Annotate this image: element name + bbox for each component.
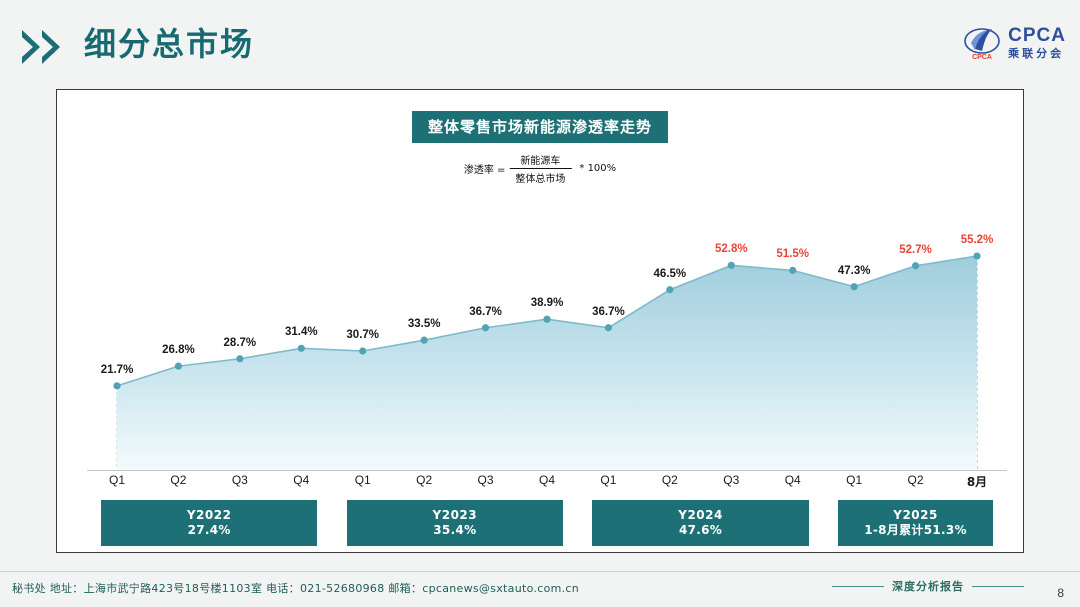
penetration-area-chart: 21.7%26.8%28.7%31.4%30.7%33.5%36.7%38.9%…: [87, 190, 1007, 470]
data-point[interactable]: [605, 324, 612, 331]
footer-report-label: 深度分析报告: [832, 578, 1024, 594]
data-label: 52.8%: [715, 243, 748, 255]
slide-header: 细分总市场 CPCA CPCA 乘联分会: [0, 0, 1080, 84]
chart-card: 整体零售市场新能源渗透率走势 渗透率 = 新能源车 整体总市场 * 100%: [56, 89, 1024, 553]
data-label: 26.8%: [162, 344, 195, 356]
year-label: Y2023: [433, 508, 478, 523]
cpca-logo: CPCA CPCA 乘联分会: [962, 22, 1066, 64]
data-label: 31.4%: [285, 326, 318, 338]
penetration-formula: 渗透率 = 新能源车 整体总市场 * 100%: [464, 152, 616, 185]
chart-title: 整体零售市场新能源渗透率走势: [412, 111, 668, 143]
data-point[interactable]: [236, 355, 243, 362]
x-axis-tick: Q4: [785, 473, 801, 487]
data-point[interactable]: [973, 252, 980, 259]
double-chevron-right-icon: [22, 27, 78, 67]
data-point[interactable]: [851, 283, 858, 290]
year-label: Y2024: [678, 508, 723, 523]
year-value: 35.4%: [433, 523, 478, 538]
area-fill: [117, 256, 977, 470]
year-label: Y2022: [187, 508, 232, 523]
footer-report-text: 深度分析报告: [892, 578, 964, 594]
data-label: 36.7%: [469, 306, 502, 318]
x-axis-tick: Q3: [232, 473, 248, 487]
page-title: 细分总市场: [84, 22, 254, 66]
footer-line-right: [972, 586, 1024, 587]
data-point[interactable]: [543, 316, 550, 323]
footer-divider: [0, 571, 1080, 572]
cpca-swoosh-icon: CPCA: [962, 23, 1002, 63]
x-axis-tick: Q1: [109, 473, 125, 487]
data-label: 51.5%: [776, 248, 809, 260]
x-axis-tick: Q2: [662, 473, 678, 487]
data-label: 47.3%: [838, 265, 871, 277]
x-axis-line: [87, 470, 1007, 471]
year-summary-bar: Y202335.4%: [347, 500, 563, 546]
page-number: 8: [1057, 586, 1064, 600]
data-label: 55.2%: [961, 234, 994, 246]
logo-text-cn: 乘联分会: [1008, 47, 1064, 61]
data-label: 46.5%: [654, 268, 687, 280]
x-axis-tick: Q2: [908, 473, 924, 487]
logo-text-en: CPCA: [1008, 26, 1066, 45]
year-value: 27.4%: [187, 523, 232, 538]
data-point[interactable]: [113, 382, 120, 389]
chart-svg: [87, 190, 1007, 470]
data-point[interactable]: [359, 347, 366, 354]
x-axis-tick: Q3: [723, 473, 739, 487]
x-axis-tick: Q2: [416, 473, 432, 487]
x-axis-tick: Q1: [846, 473, 862, 487]
formula-label: 渗透率 =: [464, 161, 506, 176]
slide: 细分总市场 CPCA CPCA 乘联分会 整体零售市场新能源渗透率走势 渗透率 …: [0, 0, 1080, 607]
year-value: 47.6%: [678, 523, 723, 538]
formula-denominator: 整体总市场: [509, 168, 571, 185]
svg-text:CPCA: CPCA: [972, 54, 992, 61]
formula-numerator: 新能源车: [514, 152, 566, 168]
x-axis-tick-labels: Q1Q2Q3Q4Q1Q2Q3Q4Q1Q2Q3Q4Q1Q28月: [87, 473, 1007, 495]
formula-tail: * 100%: [579, 163, 616, 174]
x-axis-tick: Q3: [478, 473, 494, 487]
data-label: 30.7%: [346, 329, 379, 341]
data-point[interactable]: [298, 345, 305, 352]
data-point[interactable]: [728, 262, 735, 269]
data-label: 28.7%: [224, 337, 257, 349]
data-point[interactable]: [912, 262, 919, 269]
x-axis-tick: Q1: [355, 473, 371, 487]
year-summary-bar: Y202447.6%: [592, 500, 808, 546]
year-label: Y2025: [864, 508, 967, 523]
year-value: 1-8月累计51.3%: [864, 523, 967, 538]
x-axis-tick: Q1: [600, 473, 616, 487]
data-point[interactable]: [666, 286, 673, 293]
footer-line-left: [832, 586, 884, 587]
data-point[interactable]: [789, 267, 796, 274]
data-label: 52.7%: [899, 244, 932, 256]
year-summary-bar: Y202227.4%: [101, 500, 317, 546]
data-label: 33.5%: [408, 318, 441, 330]
x-axis-tick: Q4: [293, 473, 309, 487]
year-summary-bars: Y202227.4%Y202335.4%Y202447.6%Y20251-8月累…: [87, 500, 1007, 546]
data-label: 38.9%: [531, 297, 564, 309]
data-label: 36.7%: [592, 306, 625, 318]
x-axis-tick: Q4: [539, 473, 555, 487]
data-point[interactable]: [175, 363, 182, 370]
data-point[interactable]: [421, 337, 428, 344]
x-axis-tick: Q2: [170, 473, 186, 487]
footer-contact: 秘书处 地址：上海市武宁路423号18号楼1103室 电话：021-526809…: [12, 580, 579, 596]
x-axis-tick: 8月: [967, 473, 987, 490]
data-point[interactable]: [482, 324, 489, 331]
year-summary-bar: Y20251-8月累计51.3%: [838, 500, 993, 546]
data-label: 21.7%: [101, 364, 134, 376]
